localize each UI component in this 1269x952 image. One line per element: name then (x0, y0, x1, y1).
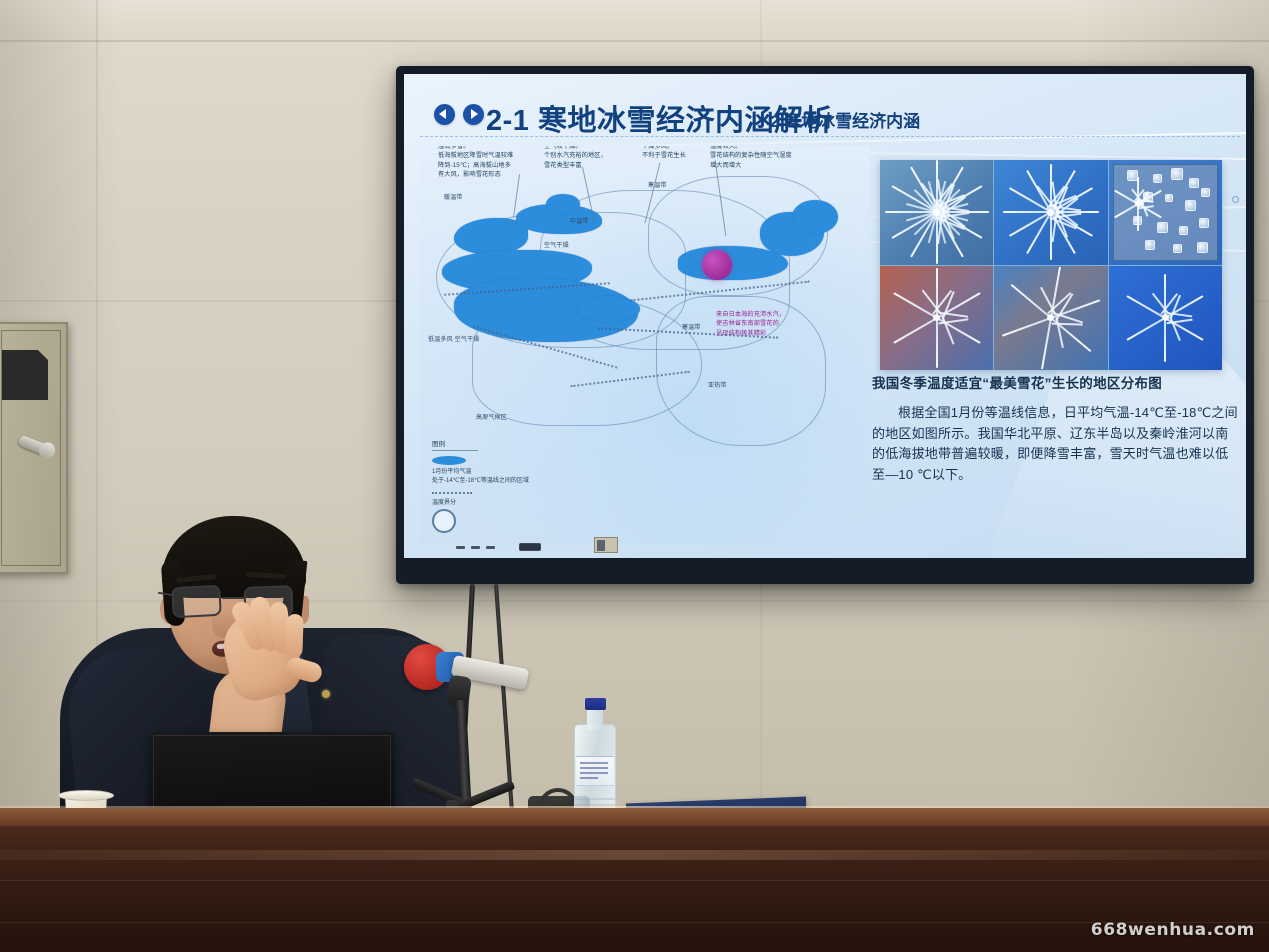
desk-panel-line (0, 922, 1269, 923)
desk-front-panel (0, 826, 1269, 952)
bottle-label (576, 756, 614, 786)
photo-scene: 2-1 寒地冰雪经济内涵解析 2.寒地冰雪经济内涵 (0, 0, 1269, 952)
desk-panel-line (0, 880, 1269, 881)
paper-cup-rim (58, 790, 114, 801)
bottle-cap[interactable] (585, 698, 606, 710)
eyeglass-bridge (222, 597, 245, 599)
presenter-finger (285, 614, 304, 659)
watermark: 668wenhua.com (1091, 920, 1255, 940)
desk-gloss (0, 850, 1269, 860)
lapel-pin-icon (322, 690, 330, 698)
eyeglass-lens-left (171, 585, 222, 619)
